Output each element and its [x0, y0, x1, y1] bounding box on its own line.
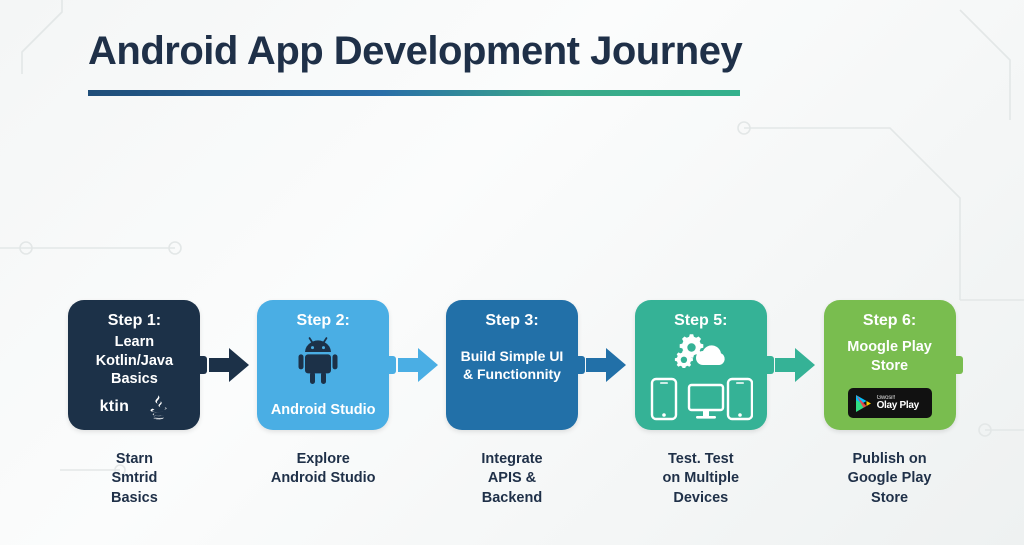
step-caption-line: Devices	[663, 489, 740, 508]
step-box-3[interactable]: Step 3: Build Simple UI & Functionnity	[446, 300, 578, 430]
step-column-5: Step 6: Moogle Play Store Gwosi!! Olay P…	[815, 300, 964, 508]
play-badge-small-text: Gwosi!!	[877, 395, 919, 401]
google-play-badge[interactable]: Gwosi!! Olay Play	[848, 388, 932, 418]
step-caption-5: Test. Test on Multiple Devices	[663, 450, 740, 508]
step-caption-2: Explore Android Studio	[271, 450, 376, 489]
step-caption-line: Backend	[481, 489, 542, 508]
step-caption-line: Smtrid	[111, 469, 158, 488]
arrow-right-icon	[398, 346, 438, 384]
step-body-line: Basics	[96, 370, 173, 388]
step-column-1: Step 1: Learn Kotlin/Java Basics ktin	[60, 300, 209, 508]
step-2-label: Android Studio	[257, 402, 389, 418]
step-caption-line: Google Play	[848, 469, 932, 488]
step-box-2[interactable]: Step 2: Android Studio	[257, 300, 389, 430]
phone-icon	[728, 379, 752, 419]
play-badge-text: Gwosi!! Olay Play	[877, 395, 919, 412]
step-box-5[interactable]: Step 5:	[635, 300, 767, 430]
step-body-6: Moogle Play Store	[847, 338, 932, 374]
step-heading-5: Step 5:	[674, 312, 727, 330]
step-body-3: Build Simple UI & Functionnity	[461, 348, 564, 383]
google-play-triangle-icon	[855, 394, 872, 413]
flow-arrow-1	[209, 300, 249, 430]
step-column-3: Step 3: Build Simple UI & Functionnity I…	[438, 300, 587, 508]
step-caption-line: Test. Test	[663, 450, 740, 469]
process-flow: Step 1: Learn Kotlin/Java Basics ktin	[60, 300, 964, 530]
step-caption-6: Publish on Google Play Store	[848, 450, 932, 508]
step-caption-line: APIS &	[481, 469, 542, 488]
java-logo-icon	[147, 394, 169, 420]
gear-cloud-icon	[673, 332, 729, 368]
flow-arrow-4	[775, 300, 815, 430]
header: Android App Development Journey	[88, 28, 788, 96]
step-body-line: & Functionnity	[461, 366, 564, 384]
step-heading-2: Step 2:	[297, 312, 350, 330]
step-body-line: Kotlin/Java	[96, 352, 173, 370]
step-caption-3: Integrate APIS & Backend	[481, 450, 542, 508]
step-caption-line: Explore	[271, 450, 376, 469]
flow-arrow-3	[586, 300, 626, 430]
kotlin-logo-text: ktin	[100, 398, 130, 416]
step-heading-3: Step 3:	[485, 312, 538, 330]
step-body-line: Store	[847, 357, 932, 375]
step-caption-line: Android Studio	[271, 469, 376, 488]
flow-arrow-2	[398, 300, 438, 430]
android-robot-icon	[298, 336, 348, 386]
step-box-6[interactable]: Step 6: Moogle Play Store Gwosi!! Olay P…	[824, 300, 956, 430]
multi-device-icon	[649, 376, 753, 422]
step-1-logo-row: ktin	[68, 394, 200, 420]
title-underline-rule	[88, 90, 740, 96]
step-body-line: Learn	[96, 333, 173, 351]
step-heading-6: Step 6:	[863, 312, 916, 330]
step-caption-line: Integrate	[481, 450, 542, 469]
arrow-right-icon	[775, 346, 815, 384]
arrow-right-icon	[586, 346, 626, 384]
step-caption-line: Basics	[111, 489, 158, 508]
step-caption-line: on Multiple	[663, 469, 740, 488]
step-body-line: Moogle Play	[847, 338, 932, 356]
play-badge-big-text: Olay Play	[877, 401, 919, 412]
page-title: Android App Development Journey	[88, 28, 788, 74]
step-caption-line: Starn	[111, 450, 158, 469]
monitor-icon	[689, 385, 723, 410]
step-box-1[interactable]: Step 1: Learn Kotlin/Java Basics ktin	[68, 300, 200, 430]
step-body-1: Learn Kotlin/Java Basics	[96, 333, 173, 387]
step-column-2: Step 2: Android Studio Explore Android S…	[249, 300, 398, 489]
arrow-right-icon	[209, 346, 249, 384]
step-5-device-icons	[635, 376, 767, 422]
step-heading-1: Step 1:	[108, 312, 161, 330]
step-body-line: Build Simple UI	[461, 348, 564, 366]
step-column-4: Step 5:	[626, 300, 775, 508]
step-caption-line: Publish on	[848, 450, 932, 469]
step-caption-1: Starn Smtrid Basics	[111, 450, 158, 508]
phone-icon	[652, 379, 676, 419]
step-caption-line: Store	[848, 489, 932, 508]
